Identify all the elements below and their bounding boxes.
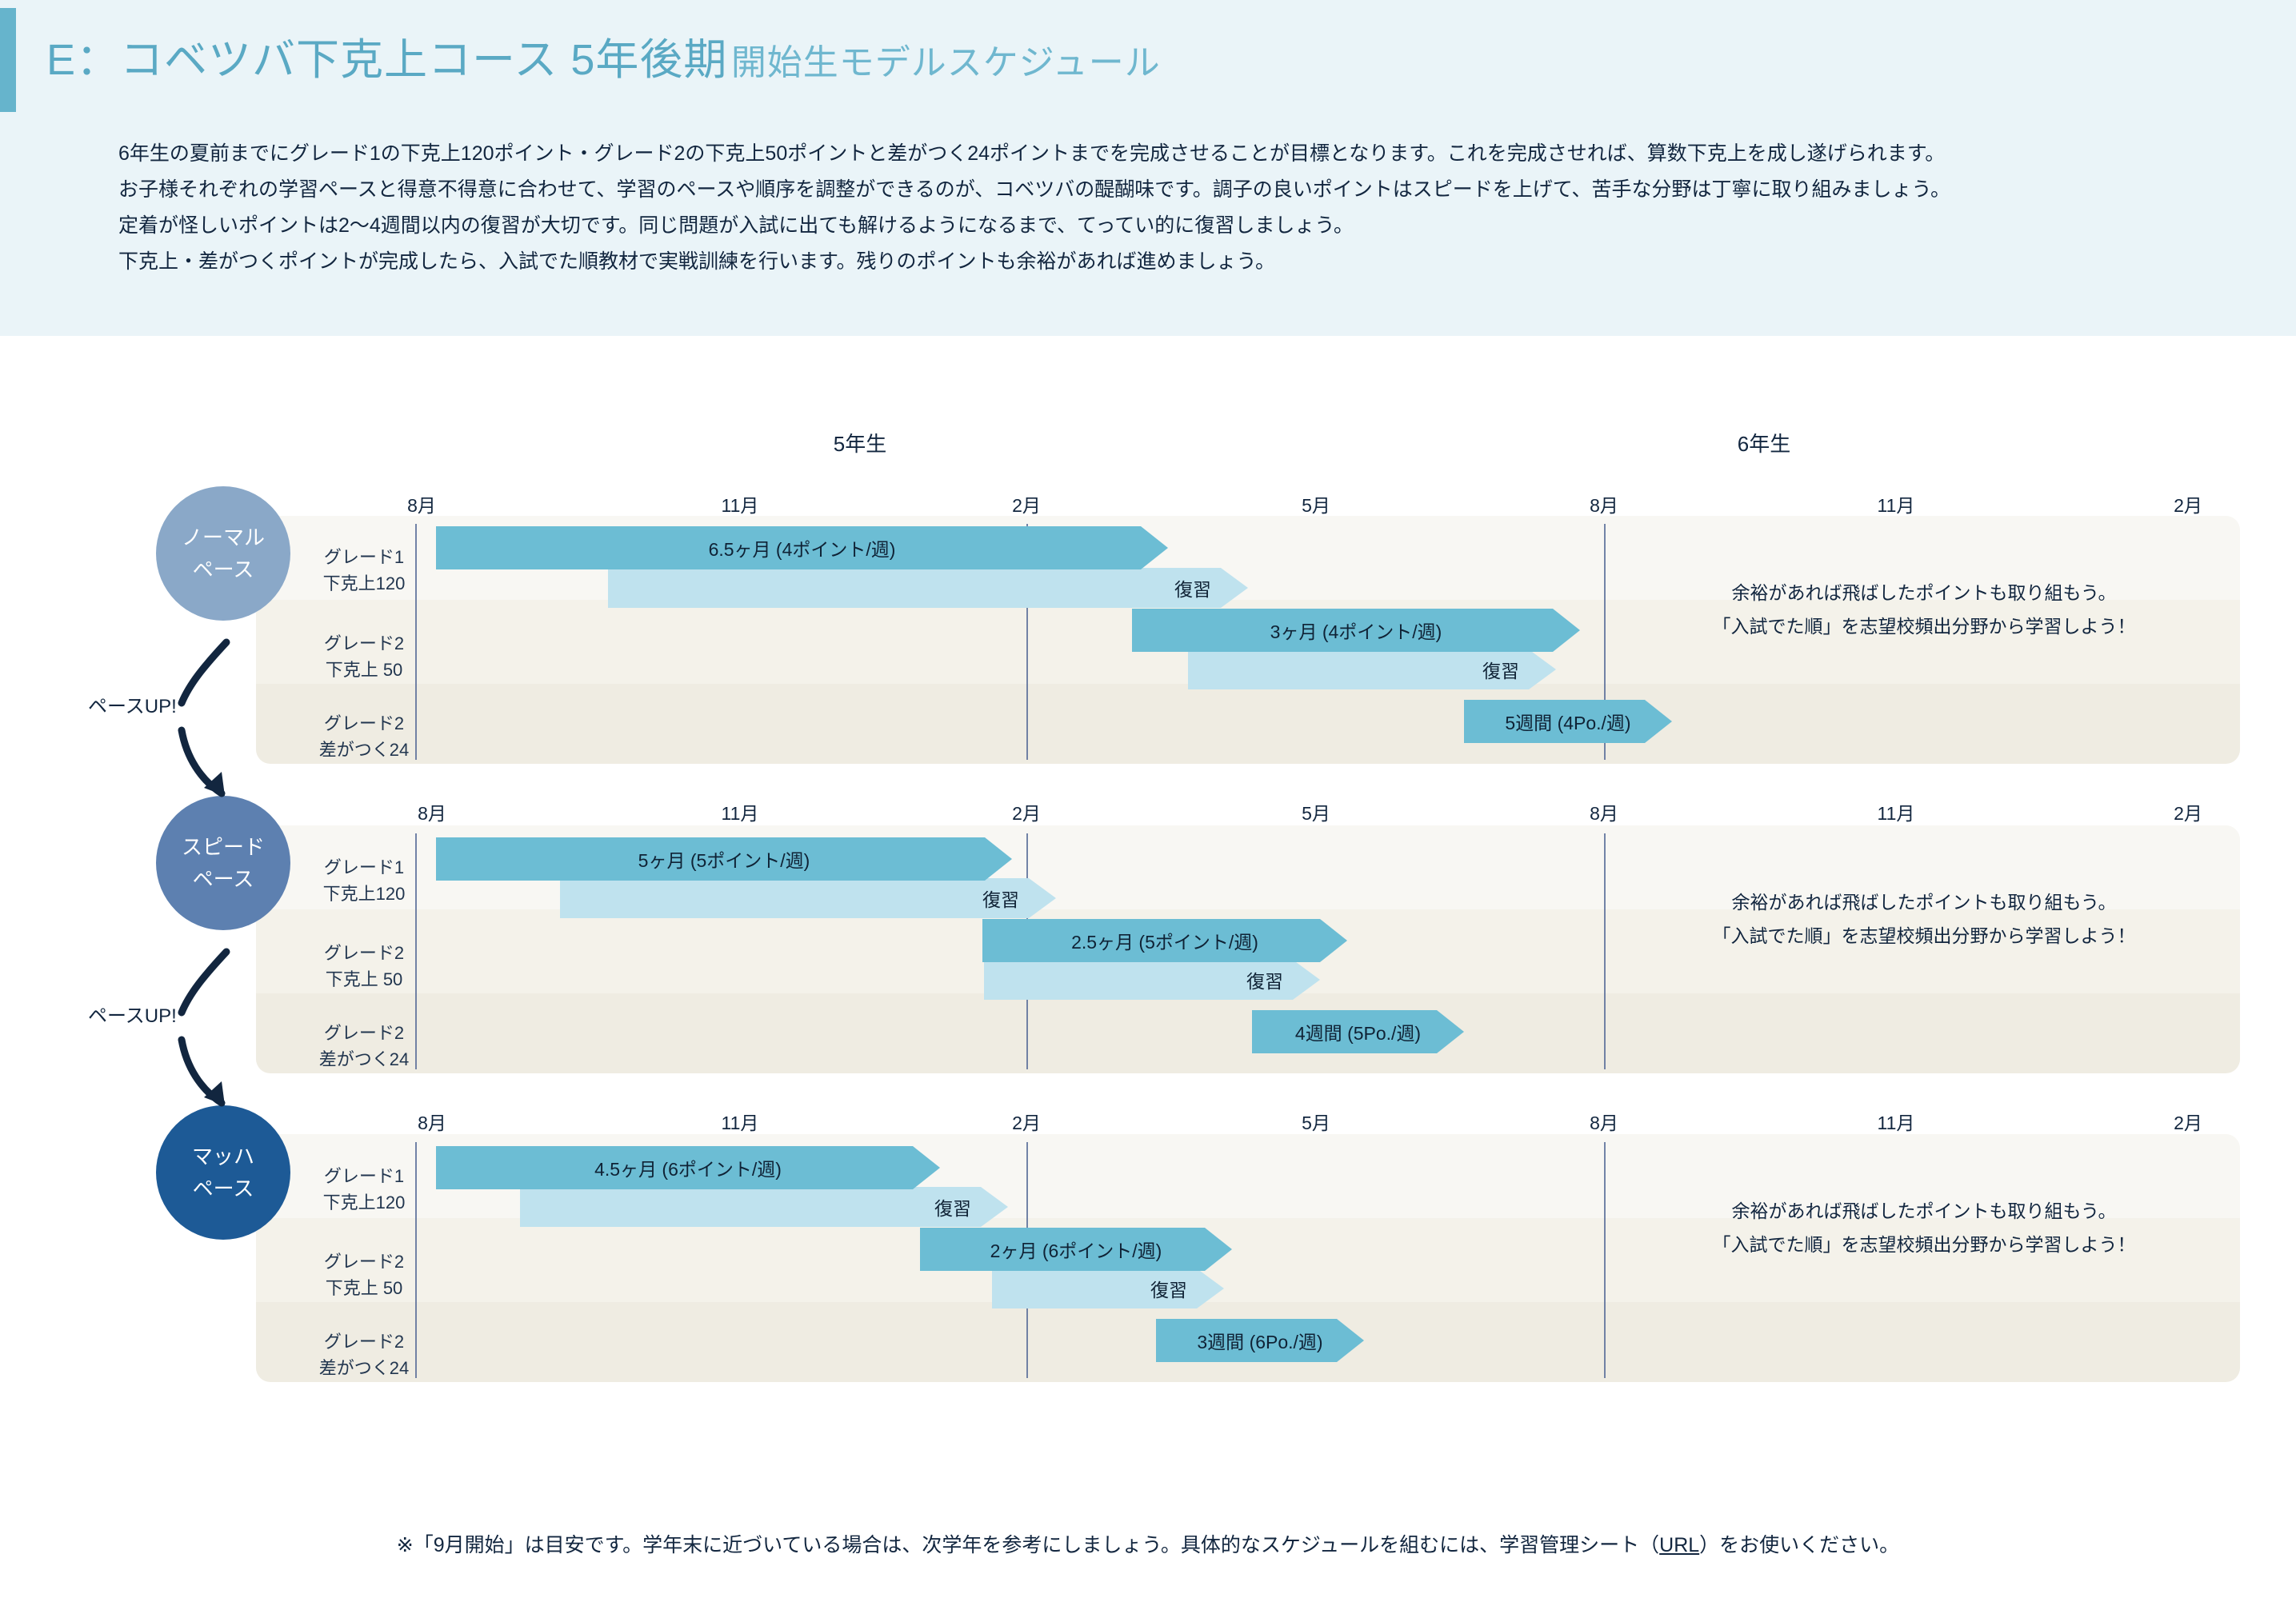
month-label-s3-3: 5月 xyxy=(1302,1108,1330,1135)
gridline-s2-aug6 xyxy=(1604,833,1606,1069)
month-label-s2-4: 8月 xyxy=(1590,798,1618,825)
row-label-mach-1: グレード1 下克上120 xyxy=(296,1163,432,1216)
month-label-s1-6: 2月 xyxy=(2174,490,2202,517)
month-label-s2-0: 8月 xyxy=(418,798,446,825)
bar-main-speed-3: 4週間 (5Po./週) xyxy=(1252,1010,1464,1053)
bar-main-speed-2: 2.5ヶ月 (5ポイント/週) xyxy=(982,919,1347,962)
row-label-normal-3: グレード2 差がつく24 xyxy=(296,710,432,763)
row-label-speed-3: グレード2 差がつく24 xyxy=(296,1020,432,1073)
row-label-mach-3-line2: 差がつく24 xyxy=(296,1355,432,1381)
year-heading-6: 6年生 xyxy=(1738,428,1790,457)
bar-main-normal-3: 5週間 (4Po./週) xyxy=(1464,700,1672,743)
row-label-normal-3-line2: 差がつく24 xyxy=(296,737,432,763)
pace-badge-mach-line2: ペース xyxy=(193,1173,254,1205)
page-title-sub: 開始生モデルスケジュール xyxy=(731,43,1161,82)
right-note-speed-line1: 余裕があれば飛ばしたポイントも取り組もう。 xyxy=(1713,885,2136,919)
row-label-speed-2-line2: 下克上 50 xyxy=(296,966,432,993)
month-label-s3-6: 2月 xyxy=(2174,1108,2202,1135)
row-label-normal-1-line2: 下克上120 xyxy=(296,570,432,597)
footnote-before: ※「9月開始」は目安です。学年末に近づいている場合は、次学年を参考にしましょう。… xyxy=(397,1534,1659,1556)
lead-line-1: 6年生の夏前までにグレード1の下克上120ポイント・グレード2の下克上50ポイン… xyxy=(118,136,2214,172)
bar-main-mach-3: 3週間 (6Po./週) xyxy=(1156,1319,1364,1362)
pace-badge-speed-line2: ペース xyxy=(193,863,254,895)
row-label-mach-3-line1: グレード2 xyxy=(296,1328,432,1355)
pace-badge-normal-line1: ノーマル xyxy=(182,521,265,553)
bar-review-mach-1: 復習 xyxy=(520,1187,1008,1227)
month-label-s1-4: 8月 xyxy=(1590,490,1618,517)
month-label-s3-4: 8月 xyxy=(1590,1108,1618,1135)
right-note-normal-line1: 余裕があれば飛ばしたポイントも取り組もう。 xyxy=(1713,576,2136,609)
lead-line-2: お子様それぞれの学習ペースと得意不得意に合わせて、学習のペースや順序を調整ができ… xyxy=(118,172,2214,208)
schedule-chart: 5年生 6年生 ノーマル ペース 8月 11月 2月 5月 8月 11月 2月 … xyxy=(0,336,2296,1622)
right-note-normal: 余裕があれば飛ばしたポイントも取り組もう。 「入試でた順」を志望校頻出分野から学… xyxy=(1713,576,2136,643)
row-label-speed-3-line2: 差がつく24 xyxy=(296,1046,432,1073)
bar-review-mach-2: 復習 xyxy=(992,1268,1224,1308)
lead-paragraph: 6年生の夏前までにグレード1の下克上120ポイント・グレード2の下克上50ポイン… xyxy=(118,136,2214,280)
month-label-s3-2: 2月 xyxy=(1012,1108,1041,1135)
row-label-speed-1-line2: 下克上120 xyxy=(296,881,432,907)
month-label-s1-0: 8月 xyxy=(407,490,436,517)
month-label-s2-1: 11月 xyxy=(722,798,759,825)
gridline-s3-aug6 xyxy=(1604,1142,1606,1378)
row-label-normal-3-line1: グレード2 xyxy=(296,710,432,737)
footnote-url-link[interactable]: URL xyxy=(1659,1534,1699,1556)
row-label-normal-1-line1: グレード1 xyxy=(296,544,432,570)
year-heading-5: 5年生 xyxy=(834,428,886,457)
bar-main-normal-1: 6.5ヶ月 (4ポイント/週) xyxy=(436,526,1168,569)
right-note-speed: 余裕があれば飛ばしたポイントも取り組もう。 「入試でた順」を志望校頻出分野から学… xyxy=(1713,885,2136,953)
bar-review-normal-2: 復習 xyxy=(1188,649,1556,689)
row-label-speed-1-line1: グレード1 xyxy=(296,854,432,881)
right-note-speed-line2: 「入試でた順」を志望校頻出分野から学習しよう！ xyxy=(1713,919,2136,953)
month-label-s2-2: 2月 xyxy=(1012,798,1041,825)
row-label-normal-2-line2: 下克上 50 xyxy=(296,657,432,683)
bar-main-speed-1: 5ヶ月 (5ポイント/週) xyxy=(436,837,1012,881)
bar-main-mach-1: 4.5ヶ月 (6ポイント/週) xyxy=(436,1146,940,1189)
bar-main-normal-2: 3ヶ月 (4ポイント/週) xyxy=(1132,609,1580,652)
pace-badge-speed: スピード ペース xyxy=(156,796,290,930)
pace-badge-mach-line1: マッハ xyxy=(192,1141,254,1173)
month-label-s2-5: 11月 xyxy=(1878,798,1915,825)
pace-badge-speed-line1: スピード xyxy=(182,831,265,863)
row-label-speed-3-line1: グレード2 xyxy=(296,1020,432,1046)
month-label-s2-6: 2月 xyxy=(2174,798,2202,825)
bar-review-speed-2: 復習 xyxy=(984,960,1320,1000)
row-label-mach-1-line1: グレード1 xyxy=(296,1163,432,1189)
row-label-mach-2-line1: グレード2 xyxy=(296,1248,432,1275)
row-label-speed-2-line1: グレード2 xyxy=(296,940,432,966)
pace-badge-normal: ノーマル ペース xyxy=(156,486,290,621)
row-label-normal-2-line1: グレード2 xyxy=(296,630,432,657)
month-label-s1-5: 11月 xyxy=(1878,490,1915,517)
row-label-mach-1-line2: 下克上120 xyxy=(296,1189,432,1216)
row-label-mach-3: グレード2 差がつく24 xyxy=(296,1328,432,1381)
right-note-mach: 余裕があれば飛ばしたポイントも取り組もう。 「入試でた順」を志望校頻出分野から学… xyxy=(1713,1194,2136,1261)
month-label-s3-5: 11月 xyxy=(1878,1108,1915,1135)
row-label-normal-2: グレード2 下克上 50 xyxy=(296,630,432,683)
bar-main-mach-2: 2ヶ月 (6ポイント/週) xyxy=(920,1228,1232,1271)
right-note-mach-line1: 余裕があれば飛ばしたポイントも取り組もう。 xyxy=(1713,1194,2136,1228)
month-label-s2-3: 5月 xyxy=(1302,798,1330,825)
bar-review-speed-1: 復習 xyxy=(560,878,1056,918)
row-band-normal-3 xyxy=(256,684,2240,764)
lead-line-3: 定着が怪しいポイントは2〜4週間以内の復習が大切です。同じ問題が入試に出ても解け… xyxy=(118,208,2214,244)
bar-review-normal-1: 復習 xyxy=(608,568,1248,608)
pace-badge-mach: マッハ ペース xyxy=(156,1105,290,1240)
right-note-mach-line2: 「入試でた順」を志望校頻出分野から学習しよう！ xyxy=(1713,1228,2136,1261)
row-label-speed-2: グレード2 下克上 50 xyxy=(296,940,432,993)
page-title-main: E：コベツバ下克上コース 5年後期 xyxy=(46,36,727,84)
month-label-s1-3: 5月 xyxy=(1302,490,1330,517)
row-label-speed-1: グレード1 下克上120 xyxy=(296,854,432,907)
row-band-speed-3 xyxy=(256,993,2240,1073)
month-label-s1-1: 11月 xyxy=(722,490,759,517)
row-label-mach-2: グレード2 下克上 50 xyxy=(296,1248,432,1301)
pace-up-label-1: ペースUP! xyxy=(88,690,177,718)
pace-badge-normal-line2: ペース xyxy=(193,553,254,585)
row-label-normal-1: グレード1 下克上120 xyxy=(296,544,432,597)
month-label-s3-0: 8月 xyxy=(418,1108,446,1135)
row-label-mach-2-line2: 下克上 50 xyxy=(296,1275,432,1301)
footnote: ※「9月開始」は目安です。学年末に近づいている場合は、次学年を参考にしましょう。… xyxy=(397,1529,1899,1558)
month-label-s1-2: 2月 xyxy=(1012,490,1041,517)
header-accent-bar xyxy=(0,8,16,112)
header-band: E：コベツバ下克上コース 5年後期 開始生モデルスケジュール 6年生の夏前までに… xyxy=(0,0,2296,336)
page-title: E：コベツバ下克上コース 5年後期 開始生モデルスケジュール xyxy=(46,24,1161,87)
lead-line-4: 下克上・差がつくポイントが完成したら、入試でた順教材で実戦訓練を行います。残りの… xyxy=(118,244,2214,280)
pace-up-label-2: ペースUP! xyxy=(88,1000,177,1028)
footnote-after: ）をお使いください。 xyxy=(1699,1534,1899,1556)
right-note-normal-line2: 「入試でた順」を志望校頻出分野から学習しよう！ xyxy=(1713,609,2136,643)
month-label-s3-1: 11月 xyxy=(722,1108,759,1135)
